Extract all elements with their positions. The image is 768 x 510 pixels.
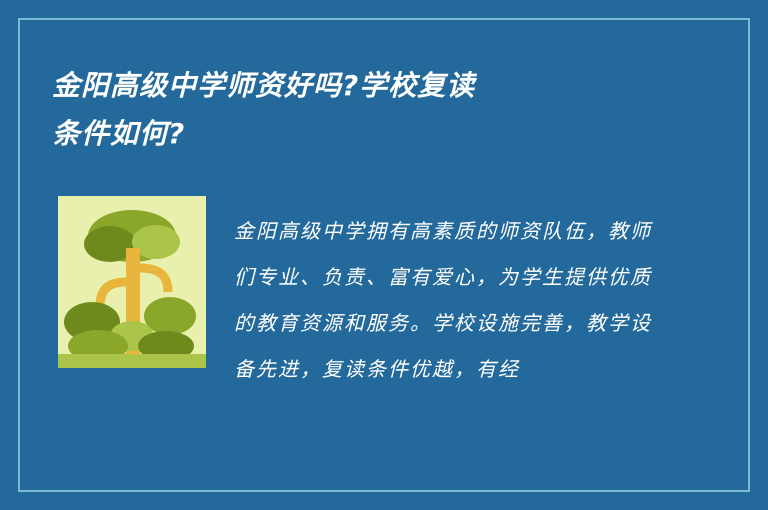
tree-illustration [58, 196, 206, 368]
page-title: 金阳高级中学师资好吗?学校复读 条件如何? [52, 62, 692, 158]
page-title-line-1: 金阳高级中学师资好吗?学校复读 [52, 69, 475, 102]
page-title-line-2: 条件如何? [52, 110, 692, 158]
article-card: 金阳高级中学师资好吗?学校复读 条件如何? 金阳高级中学拥有高素质的师资队伍，教… [0, 0, 768, 510]
article-body: 金阳高级中学拥有高素质的师资队伍，教师们专业、负责、富有爱心，为学生提供优质的教… [234, 208, 654, 392]
